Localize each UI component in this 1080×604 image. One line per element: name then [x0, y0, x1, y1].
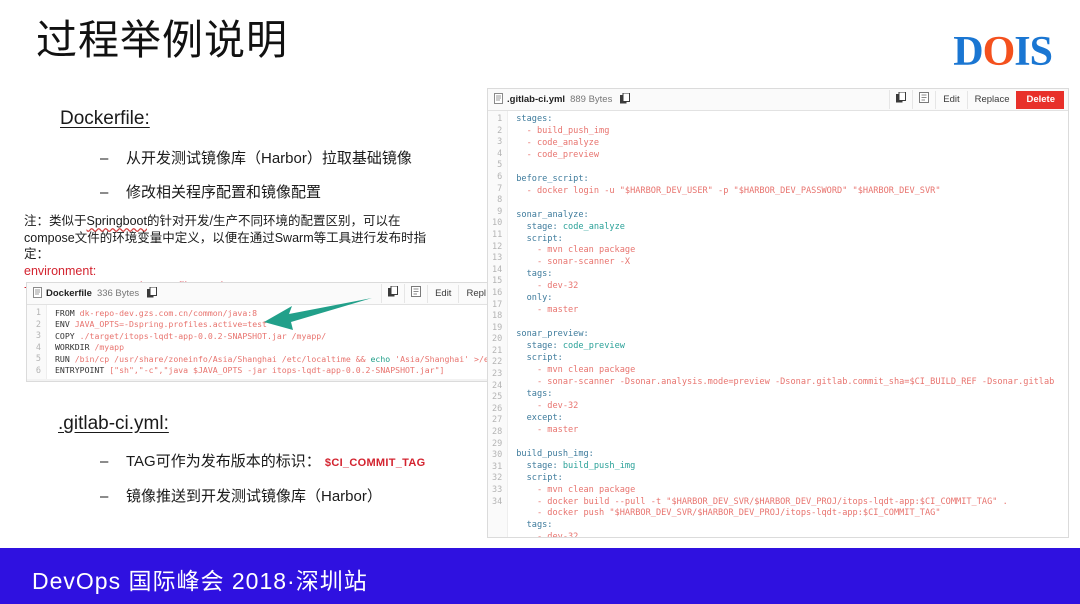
logo-letter-is: IS: [1014, 29, 1052, 75]
note-environment-key: environment:: [24, 264, 96, 278]
heading-dockerfile: Dockerfile:: [60, 108, 150, 130]
copy-path-icon[interactable]: [147, 287, 157, 301]
slide-root: 过程举例说明 DOIS Dockerfile: –从开发测试镜像库（Harbor…: [0, 0, 1080, 604]
bullet-text: TAG可作为发布版本的标识：: [126, 453, 321, 470]
footer-bar: DevOps 国际峰会 2018·深圳站: [0, 548, 1080, 604]
dockerfile-filename: Dockerfile: [46, 288, 92, 299]
copy-contents-icon[interactable]: [381, 284, 404, 303]
dockerfile-file-panel: Dockerfile 336 Bytes Edit Repl 123456 FR…: [26, 282, 498, 382]
dois-logo: DOIS: [953, 28, 1052, 76]
dockerfile-code-body: 123456 FROM dk-repo-dev.gzs.com.cn/commo…: [27, 305, 497, 381]
dockerfile-panel-header: Dockerfile 336 Bytes Edit Repl: [27, 283, 497, 305]
note-line2: compose文件的环境变量中定义，以便在通过Swarm等工具进行发布时指定：: [24, 231, 426, 262]
bullet-dash: –: [100, 184, 126, 201]
heading-gitlab-ci: .gitlab-ci.yml:: [58, 413, 169, 435]
logo-letter-o: O: [983, 29, 1015, 75]
yml-line-numbers: 1234567891011121314151617181920212223242…: [488, 111, 508, 538]
file-icon: [494, 93, 503, 107]
bullet-text: 从开发测试镜像库（Harbor）拉取基础镜像: [126, 150, 412, 167]
yml-code[interactable]: stages: - build_push_img - code_analyze …: [508, 111, 1068, 538]
footer-text: DevOps 国际峰会 2018·深圳站: [32, 562, 368, 596]
dockerfile-code[interactable]: FROM dk-repo-dev.gzs.com.cn/common/java:…: [47, 305, 497, 381]
delete-button[interactable]: Delete: [1016, 91, 1064, 109]
open-raw-icon[interactable]: [404, 284, 427, 303]
note-line1-c: 的针对开发/生产不同环境的配置区别，可以在: [147, 214, 400, 228]
bullet-text: 镜像推送到开发测试镜像库（Harbor）: [126, 488, 382, 505]
logo-letter-d: D: [953, 29, 982, 75]
open-raw-icon[interactable]: [912, 90, 935, 109]
note-line1-b: Springboot: [87, 214, 147, 228]
replace-button[interactable]: Replace: [967, 91, 1017, 109]
yml-actions: Edit Replace Delete: [889, 90, 1064, 109]
yml-code-body: 1234567891011121314151617181920212223242…: [488, 111, 1068, 538]
bullet-code-tag: $CI_COMMIT_TAG: [325, 457, 426, 469]
copy-path-icon[interactable]: [620, 93, 630, 107]
bullet-text: 修改相关程序配置和镜像配置: [126, 184, 321, 201]
note-line1-a: 注：类似于: [24, 214, 87, 228]
yml-filename: .gitlab-ci.yml: [507, 94, 565, 105]
bullet-item: –TAG可作为发布版本的标识： $CI_COMMIT_TAG: [100, 450, 425, 471]
dockerfile-filesize: 336 Bytes: [97, 288, 139, 299]
yml-filesize: 889 Bytes: [570, 94, 612, 105]
edit-button[interactable]: Edit: [935, 91, 966, 109]
bullet-item: –镜像推送到开发测试镜像库（Harbor）: [100, 485, 382, 506]
file-icon: [33, 287, 42, 301]
page-title: 过程举例说明: [36, 16, 288, 65]
dockerfile-line-numbers: 123456: [27, 305, 47, 381]
bullet-item: –修改相关程序配置和镜像配置: [100, 181, 321, 202]
edit-button[interactable]: Edit: [427, 285, 458, 303]
bullet-dash: –: [100, 488, 126, 505]
dockerfile-actions: Edit Repl: [381, 284, 493, 303]
yml-panel-header: .gitlab-ci.yml 889 Bytes Edit Replace De…: [488, 89, 1068, 111]
gitlab-ci-file-panel: .gitlab-ci.yml 889 Bytes Edit Replace De…: [487, 88, 1069, 538]
copy-contents-icon[interactable]: [889, 90, 912, 109]
bullet-item: –从开发测试镜像库（Harbor）拉取基础镜像: [100, 147, 412, 168]
bullet-dash: –: [100, 453, 126, 470]
bullet-dash: –: [100, 150, 126, 167]
